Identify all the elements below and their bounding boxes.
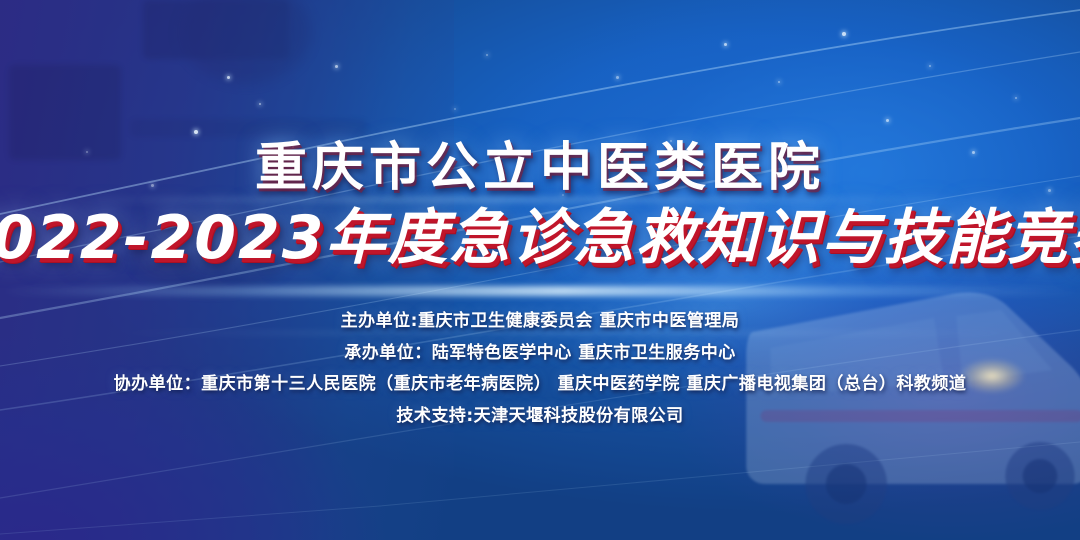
poster-banner: 重庆市公立中医类医院 2022-2023年度急诊急救知识与技能竞赛 主办单位:重… (0, 0, 1080, 540)
page-title: 重庆市公立中医类医院 (255, 142, 825, 194)
poster-content: 重庆市公立中医类医院 2022-2023年度急诊急救知识与技能竞赛 主办单位:重… (0, 0, 1080, 540)
credit-line-tech-support: 技术支持:天津天堰科技股份有限公司 (396, 407, 683, 426)
credit-line-host: 承办单位：陆军特色医学中心 重庆市卫生服务中心 (344, 344, 735, 363)
credit-line-coorganizer: 协办单位：重庆市第十三人民医院（重庆市老年病医院） 重庆中医药学院 重庆广播电视… (114, 375, 967, 394)
credit-line-organizer: 主办单位:重庆市卫生健康委员会 重庆市中医管理局 (341, 312, 740, 331)
page-subtitle: 2022-2023年度急诊急救知识与技能竞赛 (0, 208, 1080, 268)
credits-block: 主办单位:重庆市卫生健康委员会 重庆市中医管理局 承办单位：陆军特色医学中心 重… (114, 312, 967, 426)
